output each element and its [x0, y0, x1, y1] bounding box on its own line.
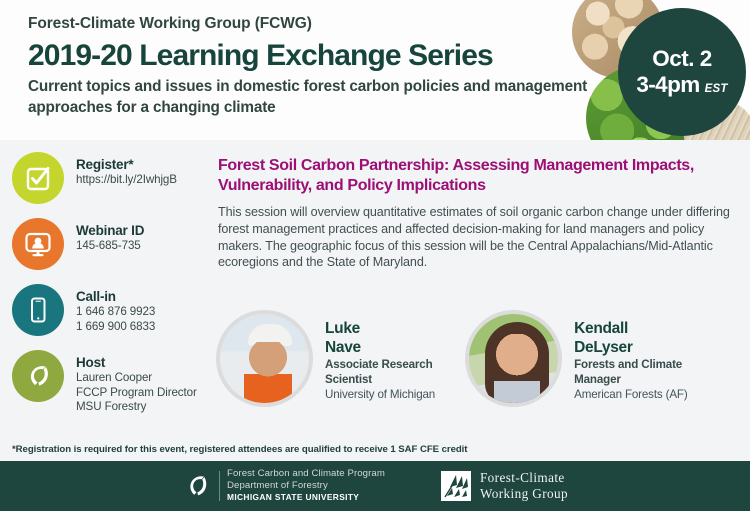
callin-number-2: 1 669 900 6833 — [76, 320, 155, 335]
msu-department-line: Department of Forestry — [227, 480, 385, 491]
session-description: This session will overview quantitative … — [218, 204, 738, 271]
spartan-helmet-icon — [182, 470, 212, 502]
host-department: MSU Forestry — [76, 400, 197, 415]
speaker-card-kendall-delyser: Kendall DeLyser Forests and Climate Mana… — [465, 310, 687, 407]
contact-item-register-body: Register* https://bit.ly/2IwhjgB — [76, 152, 177, 188]
avatar — [465, 310, 562, 407]
callin-number-1: 1 646 876 9923 — [76, 305, 155, 320]
contact-item-label: Call-in — [76, 288, 155, 305]
msu-university-line: MICHIGAN STATE UNIVERSITY — [227, 492, 385, 503]
speakers-row: Luke Nave Associate Research Scientist U… — [216, 310, 740, 407]
speaker-role-line1: Forests and Climate — [574, 358, 687, 372]
mobile-phone-icon — [12, 284, 64, 336]
speaker-first-name: Luke — [325, 319, 435, 338]
speaker-role-line1: Associate Research — [325, 358, 435, 372]
badge-time: 3-4pm — [636, 72, 699, 98]
speaker-organization: American Forests (AF) — [574, 388, 687, 402]
registration-footnote: *Registration is required for this event… — [12, 444, 467, 455]
contact-item-label: Register* — [76, 156, 177, 173]
webinar-id-value: 145-685-735 — [76, 239, 144, 254]
speaker-info: Luke Nave Associate Research Scientist U… — [325, 310, 435, 402]
contact-item-label: Host — [76, 354, 197, 371]
organization-name: Forest-Climate Working Group (FCWG) — [28, 14, 598, 34]
session-title: Forest Soil Carbon Partnership: Assessin… — [218, 156, 738, 195]
contact-info-column: Register* https://bit.ly/2IwhjgB Webinar… — [12, 152, 212, 429]
session-block: Forest Soil Carbon Partnership: Assessin… — [218, 156, 738, 271]
date-time-badge: Oct. 2 3-4pm EST — [618, 8, 746, 136]
speaker-first-name: Kendall — [574, 319, 687, 338]
speaker-card-luke-nave: Luke Nave Associate Research Scientist U… — [216, 310, 435, 407]
header-banner: Forest-Climate Working Group (FCWG) 2019… — [0, 0, 750, 140]
contact-item-callin-body: Call-in 1 646 876 9923 1 669 900 6833 — [76, 284, 155, 334]
leaf-branch-icon — [441, 471, 471, 501]
page-subtitle: Current topics and issues in domestic fo… — [28, 77, 598, 118]
badge-time-row: 3-4pm EST — [636, 72, 727, 98]
page-title: 2019-20 Learning Exchange Series — [28, 39, 598, 73]
speaker-last-name: Nave — [325, 338, 435, 357]
footer-bar: Forest Carbon and Climate Program Depart… — [0, 461, 750, 511]
speaker-info: Kendall DeLyser Forests and Climate Mana… — [574, 310, 687, 402]
fcwg-line2: Working Group — [480, 486, 568, 502]
badge-timezone: EST — [705, 83, 728, 95]
host-name: Lauren Cooper — [76, 371, 197, 386]
host-title: FCCP Program Director — [76, 386, 197, 401]
webinar-flyer: Forest-Climate Working Group (FCWG) 2019… — [0, 0, 750, 511]
spartan-helmet-icon — [12, 350, 64, 402]
speaker-organization: University of Michigan — [325, 388, 435, 402]
checkbox-icon — [12, 152, 64, 204]
fcwg-logo-text: Forest-Climate Working Group — [480, 470, 568, 501]
contact-item-register[interactable]: Register* https://bit.ly/2IwhjgB — [12, 152, 212, 204]
speaker-role-line2: Manager — [574, 373, 687, 387]
speaker-last-name: DeLyser — [574, 338, 687, 357]
msu-program-line: Forest Carbon and Climate Program — [227, 468, 385, 479]
fcwg-line1: Forest-Climate — [480, 470, 568, 486]
register-url[interactable]: https://bit.ly/2IwhjgB — [76, 173, 177, 188]
msu-logo-text: Forest Carbon and Climate Program Depart… — [227, 468, 385, 503]
contact-item-label: Webinar ID — [76, 222, 144, 239]
msu-logo-lockup: Forest Carbon and Climate Program Depart… — [182, 468, 385, 503]
contact-item-callin: Call-in 1 646 876 9923 1 669 900 6833 — [12, 284, 212, 336]
speaker-role-line2: Scientist — [325, 373, 435, 387]
header-text-block: Forest-Climate Working Group (FCWG) 2019… — [28, 14, 598, 118]
avatar — [216, 310, 313, 407]
contact-item-host-body: Host Lauren Cooper FCCP Program Director… — [76, 350, 197, 415]
logo-divider — [219, 471, 220, 501]
fcwg-logo-lockup: Forest-Climate Working Group — [441, 470, 568, 501]
badge-date: Oct. 2 — [652, 46, 712, 72]
webinar-monitor-icon — [12, 218, 64, 270]
contact-item-host: Host Lauren Cooper FCCP Program Director… — [12, 350, 212, 415]
contact-item-webinar-id: Webinar ID 145-685-735 — [12, 218, 212, 270]
contact-item-webinar-body: Webinar ID 145-685-735 — [76, 218, 144, 254]
